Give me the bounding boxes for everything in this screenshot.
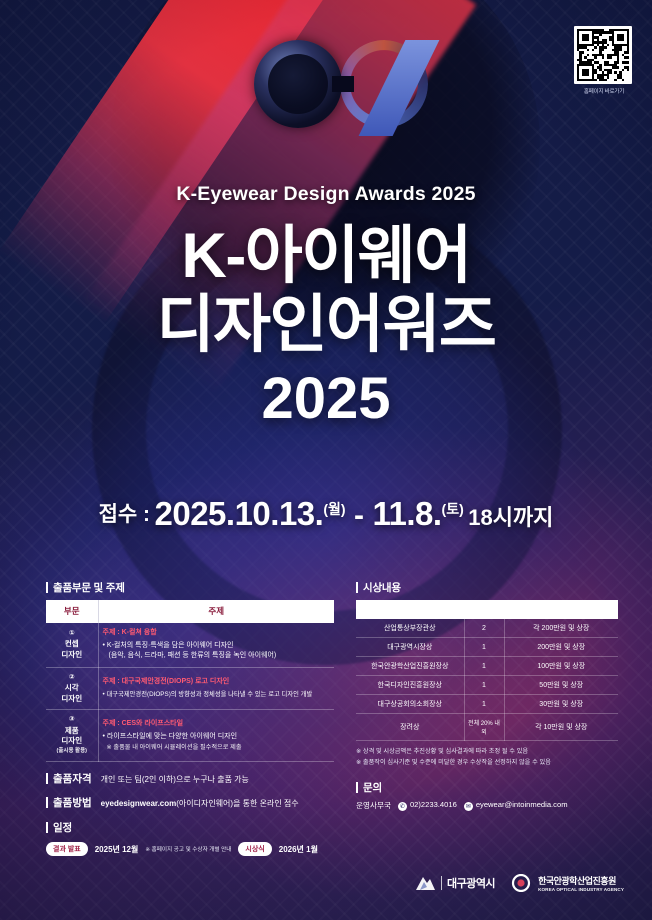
entry-category-2: ② 시각 디자인 (46, 667, 98, 710)
date-start: 2025.10.13. (155, 495, 324, 532)
award-name-6: 장려상 (356, 714, 464, 741)
phone-icon: ✆ (398, 802, 407, 811)
date-end-day: (토) (442, 501, 464, 517)
award-prize-2: 200만원 및 상장 (504, 638, 618, 657)
award-prize-5: 30만원 및 상장 (504, 695, 618, 714)
table-row: ③ 제품 디자인 (출시용 활용) 주제 : CES와 라이프스타일 • 라이프… (46, 710, 334, 762)
method-label: 출품방법 (46, 795, 92, 810)
awards-notes: ※ 상격 및 시상금액은 추진상황 및 심사결과에 따라 조정 될 수 있음 ※… (356, 747, 618, 768)
entry-topic-2-head: 주제 : 대구국제안경전(DIOPS) 로고 디자인 (103, 677, 331, 688)
date-start-day: (월) (323, 501, 345, 517)
awards-note-2: ※ 출품작이 심사기준 및 수준에 미달한 경우 수상작을 선정하지 않을 수 … (356, 758, 618, 769)
entry-col-category: 부문 (46, 600, 98, 623)
method-row: 출품방법 eyedesignwear.com(아이디자인웨어)을 통한 온라인 … (46, 795, 334, 810)
table-row: 대구상공회의소회장상 1 30만원 및 상장 (356, 695, 618, 714)
award-prize-3: 100만원 및 상장 (504, 657, 618, 676)
daegu-mountain-icon (414, 874, 436, 892)
koia-eye-icon (511, 874, 533, 892)
table-row: 산업통상부장관상 2 각 200만원 및 상장 (356, 619, 618, 638)
method-value: eyedesignwear.com(아이디자인웨어)을 통한 온라인 접수 (101, 798, 299, 809)
info-panel: 출품부문 및 주제 부문 주제 ① 컨셉 디자인 주제 : K-컬쳐 융합 • … (0, 580, 652, 920)
award-qty-1: 2 (464, 619, 504, 638)
date-label: 접수 : (99, 503, 150, 526)
entry-topic-3: 주제 : CES와 라이프스타일 • 라이프스타일에 맞는 다양한 아이웨어 디… (98, 710, 334, 762)
poster-root: 홈페이지 바로가기 K-Eyewear Design Awards 2025 K… (0, 0, 652, 920)
table-row: 대구광역시장상 1 200만원 및 상장 (356, 638, 618, 657)
schedule-badge-ceremony: 시상식 (238, 842, 271, 856)
qualification-row: 출품자격 개인 또는 팀(2인 이하)으로 누구나 출품 가능 (46, 771, 334, 786)
entry-table: 부문 주제 ① 컨셉 디자인 주제 : K-컬쳐 융합 • K-컬처의 특징·특… (46, 600, 334, 762)
page-title-line2: 디자인어워즈 (0, 294, 652, 356)
awards-note-1: ※ 상격 및 시상금액은 추진상황 및 심사결과에 따라 조정 될 수 있음 (356, 747, 618, 758)
schedule-note-result: ※ 홈페이지 공고 및 수상자 개별 안내 (145, 845, 231, 853)
logo-koia: 한국안광학산업진흥원KOREA OPTICAL INDUSTRY AGENCY (511, 874, 624, 892)
schedule-value-result: 2025년 12월 (95, 844, 139, 855)
table-row: ① 컨셉 디자인 주제 : K-컬쳐 융합 • K-컬처의 특징·특색을 담은 … (46, 623, 334, 668)
table-row: 한국디자인진흥원장상 1 50만원 및 상장 (356, 676, 618, 695)
entry-topic-2-line1: • 대구국제안경전(DIOPS)의 방향성과 정체성을 나타낼 수 있는 로고 … (103, 690, 331, 699)
awards-col-prize: 부상 (504, 600, 618, 619)
method-value-text: (아이디자인웨어)을 통한 온라인 접수 (176, 799, 298, 808)
schedule-row: 결과 발표 2025년 12월 ※ 홈페이지 공고 및 수상자 개별 안내 시상… (46, 842, 334, 856)
footer-logos: 대구광역시 한국안광학산업진흥원KOREA OPTICAL INDUSTRY A… (414, 874, 624, 892)
contact-phone: 02)2233.4016 (410, 800, 457, 809)
table-row: 한국안광학산업진흥원장상 1 100만원 및 상장 (356, 657, 618, 676)
mail-icon: ✉ (464, 802, 473, 811)
contact-office: 운영사무국 (356, 800, 391, 811)
entry-category-3-l2: 디자인 (61, 736, 82, 745)
award-name-1: 산업통상부장관상 (356, 619, 464, 638)
schedule-badge-result: 결과 발표 (46, 842, 88, 856)
contact-title: 문의 (356, 780, 618, 795)
entry-topic-1-line1: • K-컬처의 특징·특색을 담은 아이웨어 디자인 (103, 641, 331, 652)
eyewear-logo-mark (232, 24, 447, 134)
logo-daegu-label: 대구광역시 (447, 875, 495, 891)
award-qty-2: 1 (464, 638, 504, 657)
contact-block: 문의 운영사무국 ✆02)2233.4016 ✉eyewear@intoinme… (356, 780, 618, 811)
schedule-value-ceremony: 2026년 1월 (279, 844, 318, 855)
entry-topic-3-head: 주제 : CES와 라이프스타일 (103, 719, 331, 730)
entry-topic-3-line1: • 라이프스타일에 맞는 다양한 아이웨어 디자인 (103, 732, 331, 743)
award-name-2: 대구광역시장상 (356, 638, 464, 657)
entry-topic-1-head: 주제 : K-컬쳐 융합 (103, 628, 331, 639)
entry-category-2-l2: 디자인 (61, 694, 82, 703)
logo-koia-label: 한국안광학산업진흥원KOREA OPTICAL INDUSTRY AGENCY (538, 874, 624, 892)
logo-divider (441, 876, 442, 890)
awards-col-qty: 수량 (464, 600, 504, 619)
entry-number-2: ② (50, 673, 94, 683)
entry-category-3-l1: 제품 (65, 726, 79, 735)
schedule-block: 일정 결과 발표 2025년 12월 ※ 홈페이지 공고 및 수상자 개별 안내… (46, 820, 334, 856)
entry-number-1: ① (50, 629, 94, 639)
contact-line: 운영사무국 ✆02)2233.4016 ✉eyewear@intoinmedia… (356, 800, 618, 811)
page-title-line1: K-아이웨어 (0, 225, 652, 287)
logo-bridge-icon (332, 76, 354, 92)
award-name-3: 한국안광학산업진흥원장상 (356, 657, 464, 676)
entry-number-3: ③ (50, 715, 94, 725)
award-qty-3: 1 (464, 657, 504, 676)
awards-column: 시상내용 구분 수량 부상 산업통상부장관상 2 각 200만원 및 상장 대구… (356, 580, 618, 811)
award-prize-1: 각 200만원 및 상장 (504, 619, 618, 638)
date-suffix: 18시까지 (468, 505, 553, 530)
award-qty-5: 1 (464, 695, 504, 714)
entry-category-1: ① 컨셉 디자인 (46, 623, 98, 668)
table-row: ② 시각 디자인 주제 : 대구국제안경전(DIOPS) 로고 디자인 • 대구… (46, 667, 334, 710)
awards-table-header: 구분 수량 부상 (356, 600, 618, 619)
entry-topic-3-note: ※ 출품물 내 아이웨어 시뮬레이션을 필수적으로 제출 (103, 743, 331, 752)
method-url[interactable]: eyedesignwear.com (101, 799, 177, 808)
entry-table-header: 부문 주제 (46, 600, 334, 623)
entry-column: 출품부문 및 주제 부문 주제 ① 컨셉 디자인 주제 : K-컬쳐 융합 • … (46, 580, 334, 856)
schedule-title: 일정 (46, 820, 334, 835)
entry-topic-1-line2: (음악, 음식, 드라마, 패션 등 한류의 특징을 녹인 아이웨어) (103, 651, 331, 662)
page-eyebrow: K-Eyewear Design Awards 2025 (0, 183, 652, 206)
entry-section-title: 출품부문 및 주제 (46, 580, 334, 595)
logo-lens-inner (268, 54, 328, 114)
award-name-4: 한국디자인진흥원장상 (356, 676, 464, 695)
qr-caption: 홈페이지 바로가기 (574, 87, 634, 95)
award-name-5: 대구상공회의소회장상 (356, 695, 464, 714)
qr-code-icon[interactable] (574, 26, 632, 84)
qualification-value: 개인 또는 팀(2인 이하)으로 누구나 출품 가능 (101, 774, 249, 785)
contact-phone-group[interactable]: ✆02)2233.4016 (398, 800, 457, 811)
entry-topic-2: 주제 : 대구국제안경전(DIOPS) 로고 디자인 • 대구국제안경전(DIO… (98, 667, 334, 710)
entry-category-3: ③ 제품 디자인 (출시용 활용) (46, 710, 98, 762)
awards-col-name: 구분 (356, 600, 464, 619)
entry-category-2-l1: 시각 (65, 683, 79, 692)
entry-category-3-sub: (출시용 활용) (50, 748, 94, 756)
qr-block[interactable]: 홈페이지 바로가기 (574, 26, 634, 95)
entry-topic-1: 주제 : K-컬쳐 융합 • K-컬처의 특징·특색을 담은 아이웨어 디자인 … (98, 623, 334, 668)
contact-email-group[interactable]: ✉eyewear@intoinmedia.com (464, 800, 568, 811)
date-end: 11.8. (372, 495, 441, 532)
awards-section-title: 시상내용 (356, 580, 618, 595)
contact-email: eyewear@intoinmedia.com (476, 800, 568, 809)
award-qty-4: 1 (464, 676, 504, 695)
page-title-line3: 2025 (0, 370, 652, 427)
award-qty-6: 전체 20% 내외 (464, 714, 504, 741)
logo-daegu: 대구광역시 (414, 874, 495, 892)
entry-category-1-l2: 디자인 (61, 650, 82, 659)
entry-col-topic: 주제 (98, 600, 334, 623)
logo-koia-sub: KOREA OPTICAL INDUSTRY AGENCY (538, 887, 624, 892)
qualification-label: 출품자격 (46, 771, 92, 786)
awards-table: 구분 수량 부상 산업통상부장관상 2 각 200만원 및 상장 대구광역시장상… (356, 600, 618, 741)
submission-date-line: 접수 : 2025.10.13.(월) - 11.8.(토) 18시까지 (0, 495, 652, 533)
date-dash: - (350, 499, 368, 532)
award-prize-6: 각 10만원 및 상장 (504, 714, 618, 741)
award-prize-4: 50만원 및 상장 (504, 676, 618, 695)
table-row: 장려상 전체 20% 내외 각 10만원 및 상장 (356, 714, 618, 741)
entry-category-1-l1: 컨셉 (65, 639, 79, 648)
